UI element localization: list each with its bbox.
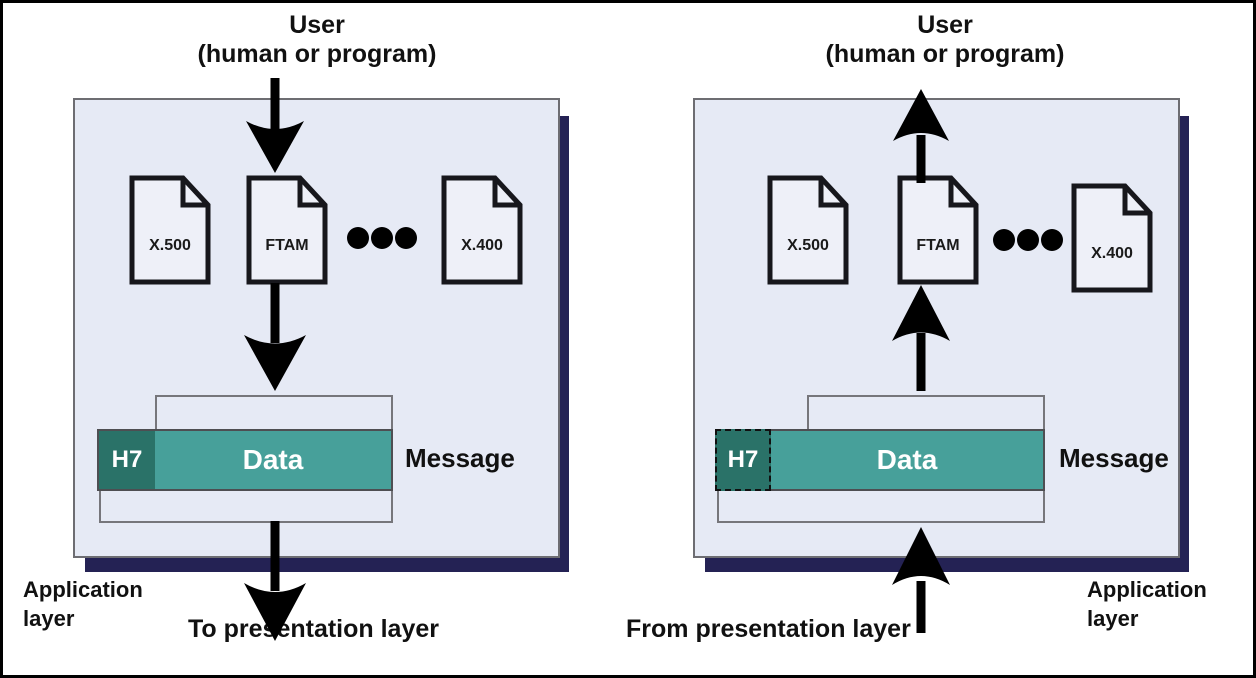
dot (993, 229, 1015, 251)
message-bracket-top-sending (155, 395, 393, 433)
header-h7: H7 (99, 431, 155, 489)
document-label: X.400 (1071, 245, 1153, 263)
transfer-label-sending: To presentation layer (188, 615, 439, 644)
document-label: FTAM (897, 237, 979, 255)
header-h7: H7 (715, 429, 771, 491)
document-icon-ftam-sending: FTAM (246, 175, 328, 285)
dot (1017, 229, 1039, 251)
dot (1041, 229, 1063, 251)
document-icon-x500-sending: X.500 (129, 175, 211, 285)
file-icon (1071, 183, 1153, 293)
user-label-sending: User (human or program) (3, 11, 631, 69)
document-label: X.400 (441, 237, 523, 255)
document-label: X.500 (767, 237, 849, 255)
message-bracket-top-receiving (807, 395, 1045, 433)
application-layer-label-receiving: Application layer (1087, 576, 1256, 633)
document-icon-x400-receiving: X.400 (1071, 183, 1153, 293)
file-icon (767, 175, 849, 285)
document-icon-x500-receiving: X.500 (767, 175, 849, 285)
dot (395, 227, 417, 249)
payload-data: Data (771, 431, 1043, 489)
ellipsis-dots-receiving (993, 229, 1063, 251)
file-icon (129, 175, 211, 285)
document-icon-x400-sending: X.400 (441, 175, 523, 285)
panel-receiving: User (human or program) X.500 FTAM (631, 3, 1256, 678)
message-label-sending: Message (405, 444, 515, 474)
dot (347, 227, 369, 249)
document-label: X.500 (129, 237, 211, 255)
transfer-label-receiving: From presentation layer (626, 615, 911, 644)
dot (371, 227, 393, 249)
document-label: FTAM (246, 237, 328, 255)
ellipsis-dots-sending (347, 227, 417, 249)
message-bracket-bottom-receiving (717, 491, 1045, 523)
message-label-receiving: Message (1059, 444, 1169, 474)
message-packet-receiving: H7 Data (715, 429, 1045, 491)
file-icon (441, 175, 523, 285)
document-icon-ftam-receiving: FTAM (897, 175, 979, 285)
file-icon (246, 175, 328, 285)
panel-sending: User (human or program) X.500 FTAM (3, 3, 631, 678)
user-label-receiving: User (human or program) (631, 11, 1256, 69)
diagram-canvas: User (human or program) X.500 FTAM (0, 0, 1256, 678)
message-bracket-bottom-sending (99, 491, 393, 523)
message-packet-sending: H7 Data (97, 429, 393, 491)
payload-data: Data (155, 431, 391, 489)
application-layer-label-sending: Application layer (23, 576, 193, 633)
file-icon (897, 175, 979, 285)
